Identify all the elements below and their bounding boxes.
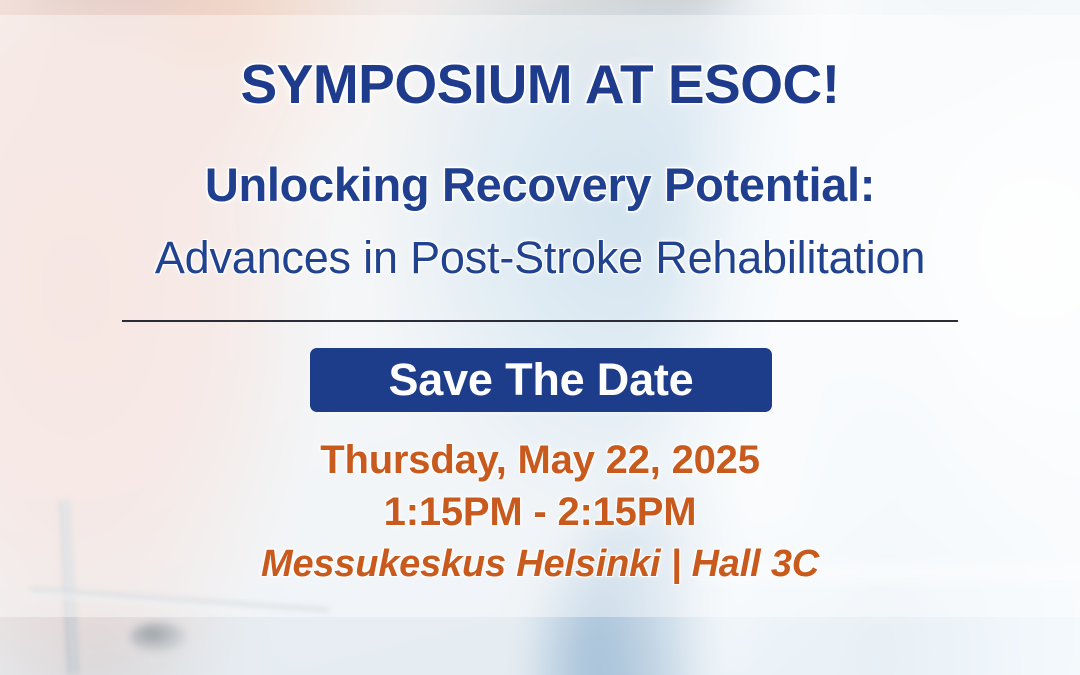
save-the-date-badge: Save The Date xyxy=(310,348,772,412)
subtitle-line-1: Unlocking Recovery Potential: xyxy=(0,157,1080,212)
event-time: 1:15PM - 2:15PM xyxy=(0,490,1080,535)
save-the-date-banner: SYMPOSIUM AT ESOC! Unlocking Recovery Po… xyxy=(0,0,1080,675)
headline: SYMPOSIUM AT ESOC! xyxy=(0,52,1080,116)
horizontal-divider xyxy=(122,320,958,322)
event-date: Thursday, May 22, 2025 xyxy=(0,438,1080,483)
subtitle-line-2: Advances in Post-Stroke Rehabilitation xyxy=(0,232,1080,284)
save-the-date-label: Save The Date xyxy=(310,354,772,406)
event-venue: Messukeskus Helsinki | Hall 3C xyxy=(0,543,1080,586)
banner-content: SYMPOSIUM AT ESOC! Unlocking Recovery Po… xyxy=(0,0,1080,675)
